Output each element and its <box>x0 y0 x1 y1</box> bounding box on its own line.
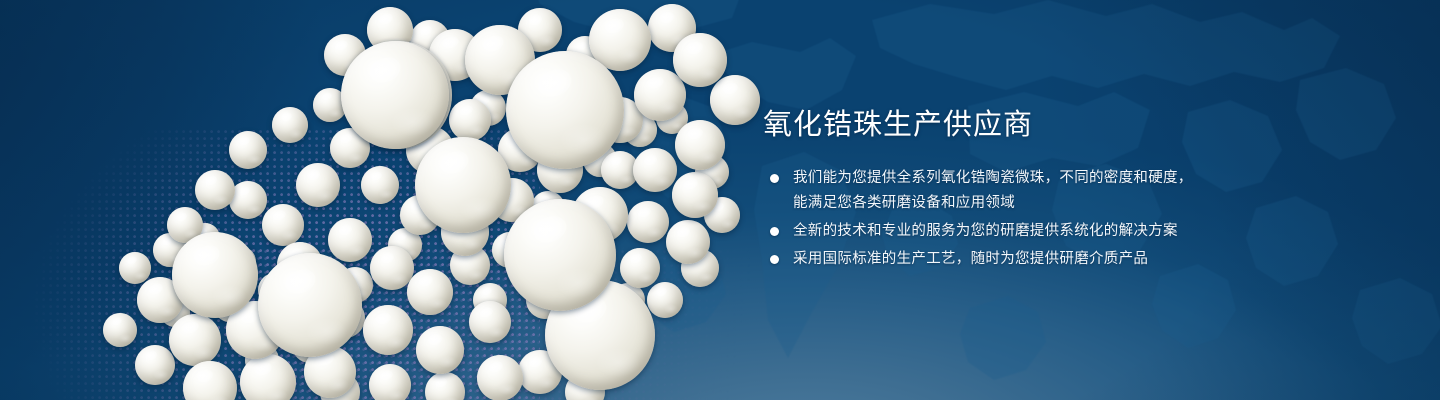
bullet-dot-icon <box>770 227 779 236</box>
feature-item-3: 采用国际标准的生产工艺，随时为您提供研磨介质产品 <box>763 247 1363 272</box>
bullet-dot-icon <box>770 255 779 264</box>
feature-item-2: 全新的技术和专业的服务为您的研磨提供系统化的解决方案 <box>763 219 1363 244</box>
feature-item-1: 我们能为您提供全系列氧化锆陶瓷微珠，不同的密度和硬度， 能满足您各类研磨设备和应… <box>763 166 1363 216</box>
feature-item-1-line-1: 我们能为您提供全系列氧化锆陶瓷微珠，不同的密度和硬度， <box>793 166 1363 191</box>
feature-item-2-line-1: 全新的技术和专业的服务为您的研磨提供系统化的解决方案 <box>793 219 1363 244</box>
banner-copy-block: 氧化锆珠生产供应商 我们能为您提供全系列氧化锆陶瓷微珠，不同的密度和硬度， 能满… <box>763 104 1363 275</box>
hero-banner: 氧化锆珠生产供应商 我们能为您提供全系列氧化锆陶瓷微珠，不同的密度和硬度， 能满… <box>0 0 1440 400</box>
feature-item-1-line-2: 能满足您各类研磨设备和应用领域 <box>793 191 1363 216</box>
bullet-dot-icon <box>770 174 779 183</box>
feature-item-3-line-1: 采用国际标准的生产工艺，随时为您提供研磨介质产品 <box>793 247 1363 272</box>
banner-feature-list: 我们能为您提供全系列氧化锆陶瓷微珠，不同的密度和硬度， 能满足您各类研磨设备和应… <box>763 166 1363 272</box>
banner-headline: 氧化锆珠生产供应商 <box>763 104 1363 144</box>
